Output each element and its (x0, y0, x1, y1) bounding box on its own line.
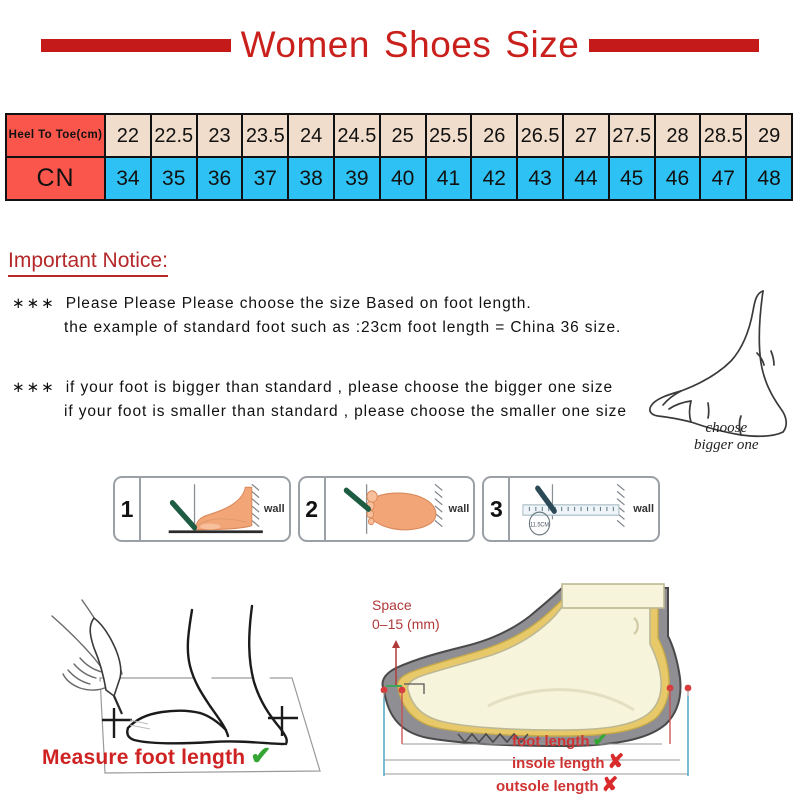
measure-label-text: Measure foot length (42, 746, 245, 769)
cm-cell: 27 (563, 114, 609, 157)
shoe-measurement-labels: foot length✔ insole length✘ outsole leng… (484, 730, 784, 797)
outsole-length-label: outsole length✘ (484, 774, 784, 797)
space-label-line-1: Space (372, 596, 440, 615)
notice-bullet-marker: ∗∗∗ (12, 295, 56, 312)
step-number-3: 3 (484, 478, 510, 540)
cn-cell: 45 (609, 157, 655, 200)
cm-cell: 22 (105, 114, 151, 157)
cn-cell: 39 (334, 157, 380, 200)
cn-cell: 46 (655, 157, 701, 200)
step-2-illustration: wall (326, 478, 474, 540)
choose-bigger-one-caption: choose bigger one (694, 420, 759, 454)
shoe-size-table: Heel To Toe(cm) 22 22.5 23 23.5 24 24.5 … (5, 113, 793, 201)
cm-cell: 28.5 (700, 114, 746, 157)
cn-cell: 37 (242, 157, 288, 200)
check-icon: ✔ (250, 742, 271, 770)
page-title-row: WomenShoesSize (0, 22, 800, 68)
cm-cell: 22.5 (151, 114, 197, 157)
ruler-reading-label: 11.5CM (530, 522, 549, 528)
row-header-heel-to-toe: Heel To Toe(cm) (6, 114, 105, 157)
title-bar-left (41, 39, 231, 52)
cross-icon: ✘ (608, 751, 625, 773)
notice-block-2: ∗∗∗if your foot is bigger than standard … (12, 376, 692, 424)
table-row-cn: CN 34 35 36 37 38 39 40 41 42 43 44 45 4… (6, 157, 792, 200)
important-notice-heading: Important Notice: (8, 249, 168, 277)
wall-label-1: wall (264, 503, 285, 515)
notice-2-line-2: if your foot is smaller than standard , … (12, 400, 692, 424)
step-box-1: 1 wall (113, 476, 291, 542)
notice-1-line-2: the example of standard foot such as :23… (12, 316, 672, 340)
step-number-2: 2 (300, 478, 326, 540)
cn-cell: 38 (288, 157, 334, 200)
cm-cell: 26 (471, 114, 517, 157)
step-3-illustration: 11.5CM wall (510, 478, 658, 540)
shoe-cross-section-diagram: Space 0–15 (mm) foot length✔ insole leng… (362, 578, 800, 796)
cn-cell: 42 (471, 157, 517, 200)
wall-label-2: wall (449, 503, 470, 515)
step-box-2: 2 wall (298, 476, 476, 542)
insole-length-text: insole length (512, 755, 605, 772)
page-title-word-2: Shoes (384, 24, 491, 65)
cn-cell: 48 (746, 157, 792, 200)
space-gap-label: Space 0–15 (mm) (372, 596, 440, 634)
step-1-illustration: wall (141, 478, 289, 540)
cm-cell: 27.5 (609, 114, 655, 157)
cn-cell: 47 (700, 157, 746, 200)
notice-2-line-1: if your foot is bigger than standard , p… (66, 379, 613, 396)
foot-length-text: foot length (512, 733, 589, 750)
measure-foot-length-illustration: Measure foot length✔ (30, 578, 360, 793)
cm-cell: 23 (197, 114, 243, 157)
cross-icon: ✘ (602, 774, 619, 796)
cn-cell: 41 (426, 157, 472, 200)
cn-cell: 40 (380, 157, 426, 200)
choose-caption-line-2: bigger one (694, 437, 759, 454)
cn-cell: 36 (197, 157, 243, 200)
notice-1-line-1: Please Please Please choose the size Bas… (66, 295, 532, 312)
space-label-line-2: 0–15 (mm) (372, 615, 440, 634)
cn-cell: 43 (517, 157, 563, 200)
foot-length-label: foot length✔ (484, 730, 784, 751)
wall-label-3: wall (633, 503, 654, 515)
title-bar-right (589, 39, 759, 52)
cm-cell: 28 (655, 114, 701, 157)
page-title-word-3: Size (505, 24, 579, 65)
cm-cell: 25.5 (426, 114, 472, 157)
outsole-length-text: outsole length (496, 778, 599, 795)
choose-caption-line-1: choose (694, 420, 759, 437)
page-title-word-1: Women (241, 24, 370, 65)
cm-cell: 25 (380, 114, 426, 157)
table-row-cm: Heel To Toe(cm) 22 22.5 23 23.5 24 24.5 … (6, 114, 792, 157)
notice-bullet-marker: ∗∗∗ (12, 379, 56, 396)
check-icon: ✔ (592, 730, 607, 750)
cm-cell: 24 (288, 114, 334, 157)
step-box-3: 3 (482, 476, 660, 542)
cm-cell: 23.5 (242, 114, 288, 157)
cm-cell: 26.5 (517, 114, 563, 157)
cn-cell: 44 (563, 157, 609, 200)
measure-foot-length-label: Measure foot length✔ (42, 741, 271, 771)
measurement-steps: 1 wall 2 (113, 476, 660, 542)
step-number-1: 1 (115, 478, 141, 540)
cn-cell: 35 (151, 157, 197, 200)
cm-cell: 24.5 (334, 114, 380, 157)
row-header-cn: CN (6, 157, 105, 200)
cm-cell: 29 (746, 114, 792, 157)
insole-length-label: insole length✘ (484, 751, 784, 774)
notice-block-1: ∗∗∗Please Please Please choose the size … (12, 292, 672, 340)
cn-cell: 34 (105, 157, 151, 200)
page-title: WomenShoesSize (231, 24, 590, 66)
